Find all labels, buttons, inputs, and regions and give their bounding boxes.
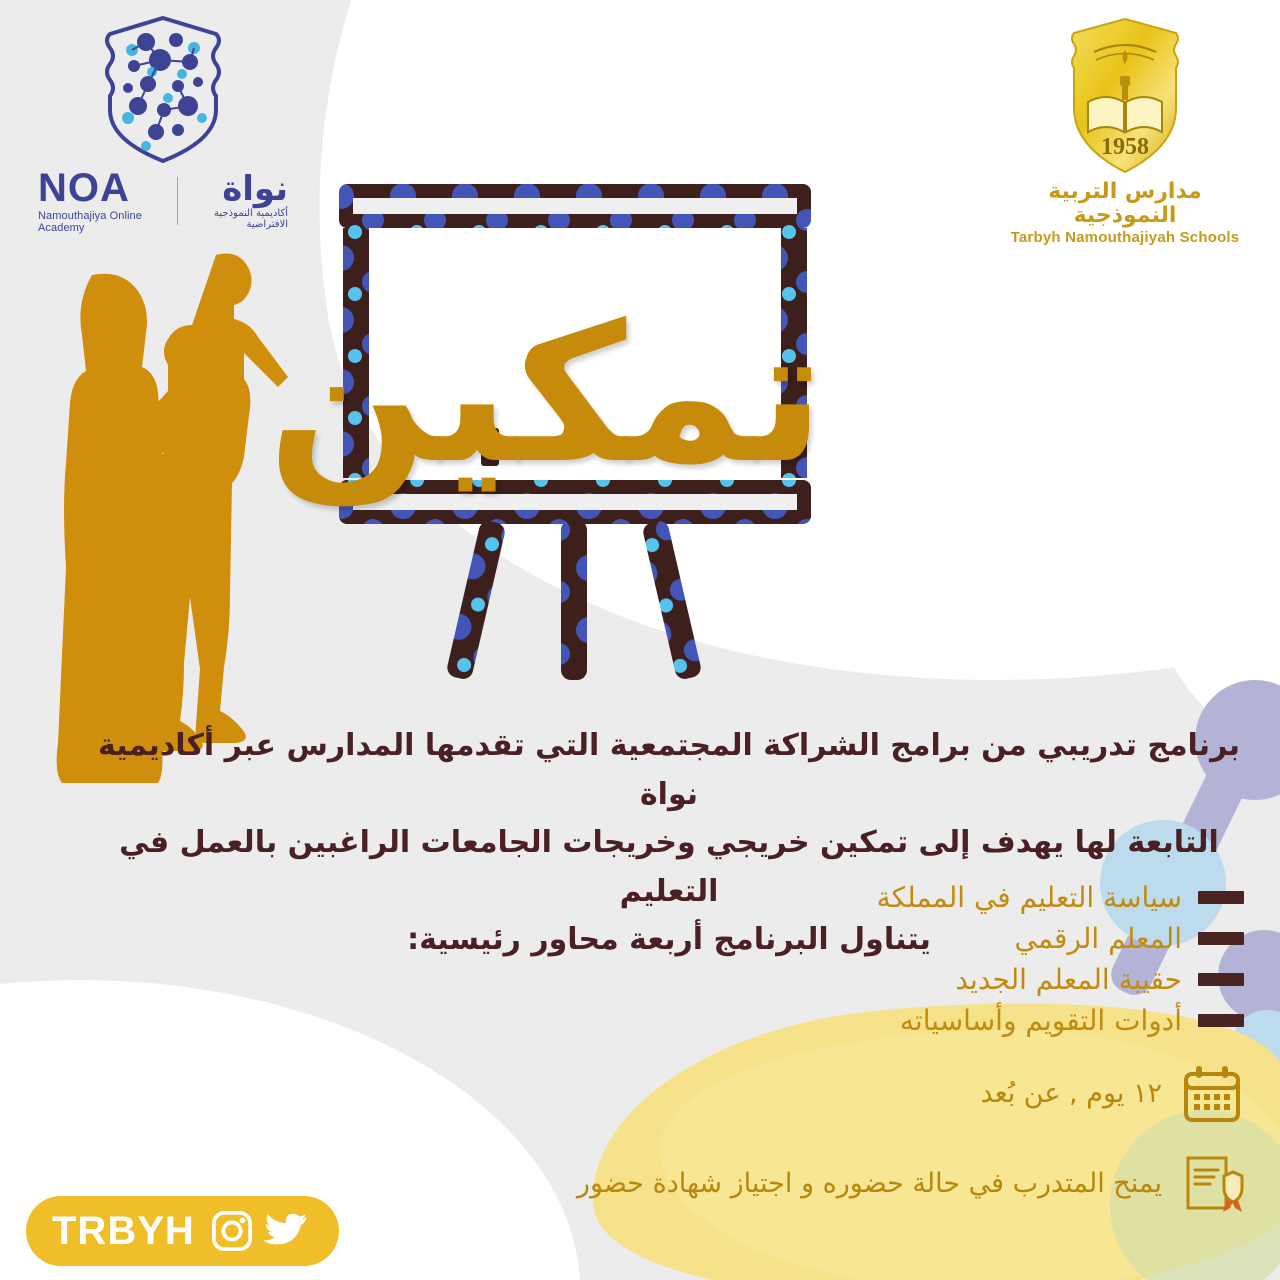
- page-title: تمكين: [325, 300, 825, 490]
- poster-root: نواة أكاديمية النموذجية الافتراضية NOA N…: [0, 0, 1280, 1280]
- noa-logo: نواة أكاديمية النموذجية الافتراضية NOA N…: [38, 14, 288, 234]
- noa-arabic-subtitle: أكاديمية النموذجية الافتراضية: [188, 208, 288, 230]
- detail-text: يمنح المتدرب في حالة حضوره و اجتياز شهاد…: [577, 1166, 1162, 1201]
- axis-label: المعلم الرقمي: [1015, 921, 1182, 956]
- social-handle-text: TRBYH: [52, 1209, 195, 1254]
- list-item: أدوات التقويم وأساسياته: [34, 1003, 1244, 1038]
- bullet-dash-icon: [1198, 891, 1244, 904]
- description-line-1: برنامج تدريبي من برامج الشراكة المجتمعية…: [94, 722, 1244, 819]
- list-item: المعلم الرقمي: [34, 921, 1244, 956]
- school-crest-year: 1958: [1101, 134, 1149, 160]
- axis-label: أدوات التقويم وأساسياته: [900, 1003, 1182, 1038]
- noa-english-name: Namouthajiya Online Academy: [38, 210, 167, 234]
- detail-text: ١٢ يوم , عن بُعد: [981, 1076, 1162, 1111]
- axis-label: سياسة التعليم في المملكة: [877, 880, 1182, 915]
- school-logo: 1958 مدارس التربية النموذجية Tarbyh Namo…: [1000, 16, 1250, 246]
- social-handle-badge[interactable]: TRBYH: [26, 1196, 339, 1266]
- calendar-icon: [1180, 1062, 1244, 1126]
- school-arabic-name: مدارس التربية النموذجية: [1000, 180, 1250, 228]
- noa-english-block: NOA Namouthajiya Online Academy: [38, 168, 167, 234]
- noa-arabic-name: نواة: [188, 172, 288, 208]
- detail-duration: ١٢ يوم , عن بُعد: [29, 1062, 1244, 1126]
- noa-divider: [177, 177, 179, 225]
- program-axes-list: سياسة التعليم في المملكة المعلم الرقمي ح…: [34, 880, 1244, 1044]
- noa-wordmark: نواة أكاديمية النموذجية الافتراضية NOA N…: [38, 168, 288, 234]
- school-english-name: Tarbyh Namouthajiyah Schools: [1000, 229, 1250, 246]
- tarbyh-shield-torch-book-icon: 1958: [1066, 16, 1184, 176]
- noa-arabic-block: نواة أكاديمية النموذجية الافتراضية: [188, 172, 288, 231]
- bullet-dash-icon: [1198, 973, 1244, 986]
- twitter-bird-icon[interactable]: [263, 1211, 309, 1251]
- bullet-dash-icon: [1198, 1014, 1244, 1027]
- list-item: حقيبة المعلم الجديد: [34, 962, 1244, 997]
- list-item: سياسة التعليم في المملكة: [34, 880, 1244, 915]
- noa-abbr: NOA: [38, 168, 167, 208]
- certificate-icon: [1180, 1152, 1244, 1216]
- noa-shield-network-icon: [98, 14, 228, 164]
- instagram-camera-icon[interactable]: [211, 1210, 253, 1252]
- axis-label: حقيبة المعلم الجديد: [955, 962, 1182, 997]
- bullet-dash-icon: [1198, 932, 1244, 945]
